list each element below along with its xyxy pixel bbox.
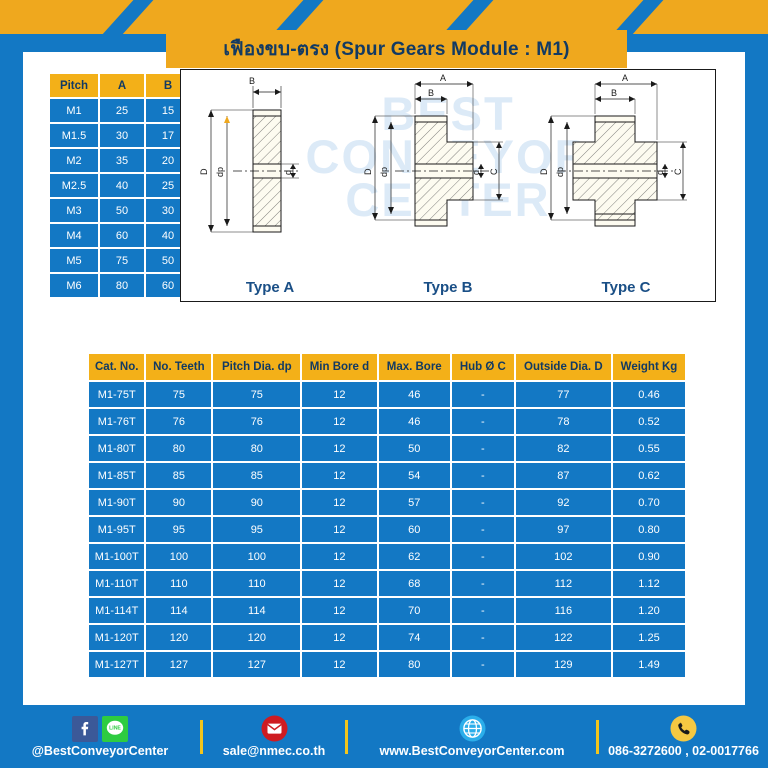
type-a-drawing: B D dp d <box>181 72 359 262</box>
footer-social-text: @BestConveyorCenter <box>32 744 169 758</box>
footer-email[interactable]: sale@nmec.co.th <box>203 715 345 758</box>
dim-label-d-bore: d <box>655 170 665 175</box>
type-c-drawing: A B D dp d C <box>537 72 715 262</box>
page-title: เฟืองขบ-ตรง (Spur Gears Module : M1) <box>166 30 627 68</box>
spec-cell: 60 <box>379 517 450 542</box>
spec-cell: 1.25 <box>613 625 685 650</box>
spec-cell: 120 <box>213 625 300 650</box>
table-row: M1-127T1271271280-1291.49 <box>89 652 685 677</box>
spec-cell: 70 <box>379 598 450 623</box>
spec-cell: 0.55 <box>613 436 685 461</box>
table-row: M1-120T1201201274-1221.25 <box>89 625 685 650</box>
dim-label-d-outer: D <box>539 168 549 175</box>
dim-label-dp: dp <box>379 167 389 177</box>
spec-cell: 0.62 <box>613 463 685 488</box>
spec-cell: 92 <box>516 490 611 515</box>
spec-cell: 116 <box>516 598 611 623</box>
page-title-text: เฟืองขบ-ตรง (Spur Gears Module : M1) <box>223 34 569 64</box>
footer-website[interactable]: www.BestConveyorCenter.com <box>348 715 596 758</box>
pitch-cell: 35 <box>100 149 144 172</box>
spec-cell: 50 <box>379 436 450 461</box>
spec-table: Cat. No. No. Teeth Pitch Dia. dp Min Bor… <box>87 352 687 679</box>
footer-social[interactable]: LINE @BestConveyorCenter <box>0 715 200 758</box>
pitch-cell: 40 <box>100 174 144 197</box>
spec-cell: 90 <box>213 490 300 515</box>
spec-cell: 100 <box>213 544 300 569</box>
spec-cell: - <box>452 652 514 677</box>
dim-label-d-bore: d <box>471 170 481 175</box>
diagram-label-type-c: Type C <box>537 279 715 296</box>
spec-cell: 12 <box>302 571 376 596</box>
diagram-label-type-a: Type A <box>181 279 359 296</box>
spec-cell: M1-80T <box>89 436 144 461</box>
spec-cell: 12 <box>302 436 376 461</box>
spec-header-cat-no: Cat. No. <box>89 354 144 380</box>
pitch-cell: 50 <box>100 199 144 222</box>
spec-cell: 95 <box>213 517 300 542</box>
envelope-icon[interactable] <box>261 715 288 742</box>
spec-header-outside-dia: Outside Dia. D <box>516 354 611 380</box>
pitch-cell: M2.5 <box>50 174 98 197</box>
spec-header-no-teeth: No. Teeth <box>146 354 211 380</box>
gear-diagram-panel: BEST CONVEYOR CENTER <box>180 69 716 302</box>
spec-table-wrap: Cat. No. No. Teeth Pitch Dia. dp Min Bor… <box>87 352 687 679</box>
spec-cell: 1.49 <box>613 652 685 677</box>
footer-phone[interactable]: 086-3272600 , 02-0017766 <box>599 715 768 758</box>
table-row: M1.53017 <box>50 124 190 147</box>
spec-cell: 1.12 <box>613 571 685 596</box>
footer-email-text: sale@nmec.co.th <box>223 744 326 758</box>
spec-cell: 46 <box>379 382 450 407</box>
type-b-drawing: A B D dp d C <box>359 72 537 262</box>
pitch-cell: 30 <box>100 124 144 147</box>
table-row: M1-80T80801250-820.55 <box>89 436 685 461</box>
spec-cell: M1-85T <box>89 463 144 488</box>
spec-header-max-bore: Max. Bore <box>379 354 450 380</box>
table-row: M1-100T1001001262-1020.90 <box>89 544 685 569</box>
table-row: M68060 <box>50 274 190 297</box>
diagram-type-c: A B D dp d C Type C <box>537 70 715 301</box>
pitch-cell: M4 <box>50 224 98 247</box>
table-row: M1-75T75751246-770.46 <box>89 382 685 407</box>
spec-cell: 54 <box>379 463 450 488</box>
dim-label-a: A <box>440 73 446 83</box>
footer-phone-text: 086-3272600 , 02-0017766 <box>608 744 759 758</box>
spec-cell: 127 <box>146 652 211 677</box>
spec-cell: 12 <box>302 625 376 650</box>
pitch-table: Pitch A B M12515 M1.53017 M23520 M2.5402… <box>48 72 192 299</box>
table-row: M12515 <box>50 99 190 122</box>
pitch-cell: M3 <box>50 199 98 222</box>
spec-cell: - <box>452 625 514 650</box>
spec-cell: 12 <box>302 382 376 407</box>
spec-cell: - <box>452 436 514 461</box>
spec-cell: 0.90 <box>613 544 685 569</box>
spec-table-header-row: Cat. No. No. Teeth Pitch Dia. dp Min Bor… <box>89 354 685 380</box>
pitch-cell: 80 <box>100 274 144 297</box>
spec-cell: - <box>452 490 514 515</box>
spec-cell: 80 <box>213 436 300 461</box>
pitch-cell: 60 <box>100 224 144 247</box>
pitch-header-pitch: Pitch <box>50 74 98 97</box>
svg-text:LINE: LINE <box>109 725 121 731</box>
spec-cell: M1-100T <box>89 544 144 569</box>
spec-cell: - <box>452 517 514 542</box>
table-row: M57550 <box>50 249 190 272</box>
spec-cell: 12 <box>302 409 376 434</box>
spec-cell: 90 <box>146 490 211 515</box>
spec-cell: 76 <box>146 409 211 434</box>
dim-label-c: C <box>673 168 683 175</box>
spec-cell: - <box>452 571 514 596</box>
spec-cell: 77 <box>516 382 611 407</box>
content-panel: เฟืองขบ-ตรง (Spur Gears Module : M1) Pit… <box>23 52 745 705</box>
table-row: M35030 <box>50 199 190 222</box>
spec-cell: - <box>452 382 514 407</box>
spec-cell: 127 <box>213 652 300 677</box>
spec-cell: 129 <box>516 652 611 677</box>
table-row: M2.54025 <box>50 174 190 197</box>
spec-cell: 87 <box>516 463 611 488</box>
spec-cell: 122 <box>516 625 611 650</box>
spec-cell: 114 <box>213 598 300 623</box>
spec-cell: 110 <box>146 571 211 596</box>
spec-cell: 78 <box>516 409 611 434</box>
spec-cell: 82 <box>516 436 611 461</box>
spec-cell: 110 <box>213 571 300 596</box>
spec-cell: 68 <box>379 571 450 596</box>
spec-header-weight: Weight Kg <box>613 354 685 380</box>
table-row: M1-90T90901257-920.70 <box>89 490 685 515</box>
spec-cell: 80 <box>146 436 211 461</box>
diagram-type-a: B D dp d Type A <box>181 70 359 301</box>
spec-cell: 97 <box>516 517 611 542</box>
spec-cell: 46 <box>379 409 450 434</box>
diagram-type-b: A B D dp d C Type B <box>359 70 537 301</box>
spec-header-min-bore: Min Bore d <box>302 354 376 380</box>
pitch-header-a: A <box>100 74 144 97</box>
table-row: M23520 <box>50 149 190 172</box>
spec-cell: M1-120T <box>89 625 144 650</box>
spec-cell: 0.80 <box>613 517 685 542</box>
spec-cell: 0.52 <box>613 409 685 434</box>
table-row: M1-85T85851254-870.62 <box>89 463 685 488</box>
spec-sheet-page: เฟืองขบ-ตรง (Spur Gears Module : M1) Pit… <box>0 0 768 768</box>
spec-cell: 0.70 <box>613 490 685 515</box>
dim-label-dp: dp <box>555 167 565 177</box>
pitch-cell: M2 <box>50 149 98 172</box>
dim-label-b: B <box>428 88 434 98</box>
pitch-cell: M1 <box>50 99 98 122</box>
spec-cell: M1-114T <box>89 598 144 623</box>
table-row: M1-95T95951260-970.80 <box>89 517 685 542</box>
dim-label-a: A <box>622 73 628 83</box>
spec-cell: 12 <box>302 598 376 623</box>
spec-cell: 80 <box>379 652 450 677</box>
dim-label-dp: dp <box>215 167 225 177</box>
spec-cell: 75 <box>213 382 300 407</box>
spec-cell: - <box>452 598 514 623</box>
spec-cell: 62 <box>379 544 450 569</box>
line-icon[interactable]: LINE <box>102 716 128 742</box>
spec-cell: 95 <box>146 517 211 542</box>
dim-label-b: B <box>611 88 617 98</box>
spec-cell: 1.20 <box>613 598 685 623</box>
spec-cell: 85 <box>213 463 300 488</box>
spec-cell: - <box>452 544 514 569</box>
spec-table-body: M1-75T75751246-770.46 M1-76T76761246-780… <box>89 382 685 677</box>
dim-label-c: C <box>489 168 499 175</box>
spec-cell: 112 <box>516 571 611 596</box>
footer-website-text: www.BestConveyorCenter.com <box>379 744 564 758</box>
spec-cell: M1-76T <box>89 409 144 434</box>
spec-cell: 114 <box>146 598 211 623</box>
globe-icon[interactable] <box>459 715 486 742</box>
spec-cell: 102 <box>516 544 611 569</box>
pitch-cell: M1.5 <box>50 124 98 147</box>
spec-cell: 12 <box>302 652 376 677</box>
spec-cell: 75 <box>146 382 211 407</box>
spec-cell: 12 <box>302 544 376 569</box>
pitch-cell: 25 <box>100 99 144 122</box>
spec-cell: - <box>452 409 514 434</box>
spec-cell: 12 <box>302 490 376 515</box>
spec-cell: M1-90T <box>89 490 144 515</box>
phone-icon[interactable] <box>670 715 697 742</box>
diagram-label-type-b: Type B <box>359 279 537 296</box>
dim-label-b: B <box>249 76 255 86</box>
spec-cell: 74 <box>379 625 450 650</box>
spec-cell: M1-75T <box>89 382 144 407</box>
pitch-cell: M5 <box>50 249 98 272</box>
dim-label-d-outer: D <box>199 168 209 175</box>
spec-cell: 120 <box>146 625 211 650</box>
spec-cell: 57 <box>379 490 450 515</box>
spec-cell: 100 <box>146 544 211 569</box>
dim-label-d-outer: D <box>363 168 373 175</box>
facebook-icon[interactable] <box>72 716 98 742</box>
spec-cell: 85 <box>146 463 211 488</box>
spec-cell: 76 <box>213 409 300 434</box>
spec-cell: M1-127T <box>89 652 144 677</box>
pitch-table-header-row: Pitch A B <box>50 74 190 97</box>
spec-cell: M1-110T <box>89 571 144 596</box>
spec-cell: - <box>452 463 514 488</box>
footer-contact-bar: LINE @BestConveyorCenter sale@nmec.co.th <box>0 705 768 768</box>
table-row: M1-110T1101101268-1121.12 <box>89 571 685 596</box>
spec-header-pitch-dia: Pitch Dia. dp <box>213 354 300 380</box>
dim-label-d-bore: d <box>283 170 293 175</box>
pitch-cell: 75 <box>100 249 144 272</box>
table-row: M46040 <box>50 224 190 247</box>
table-row: M1-76T76761246-780.52 <box>89 409 685 434</box>
spec-cell: 12 <box>302 517 376 542</box>
spec-cell: M1-95T <box>89 517 144 542</box>
pitch-cell: M6 <box>50 274 98 297</box>
spec-header-hub-c: Hub Ø C <box>452 354 514 380</box>
spec-cell: 0.46 <box>613 382 685 407</box>
table-row: M1-114T1141141270-1161.20 <box>89 598 685 623</box>
spec-cell: 12 <box>302 463 376 488</box>
